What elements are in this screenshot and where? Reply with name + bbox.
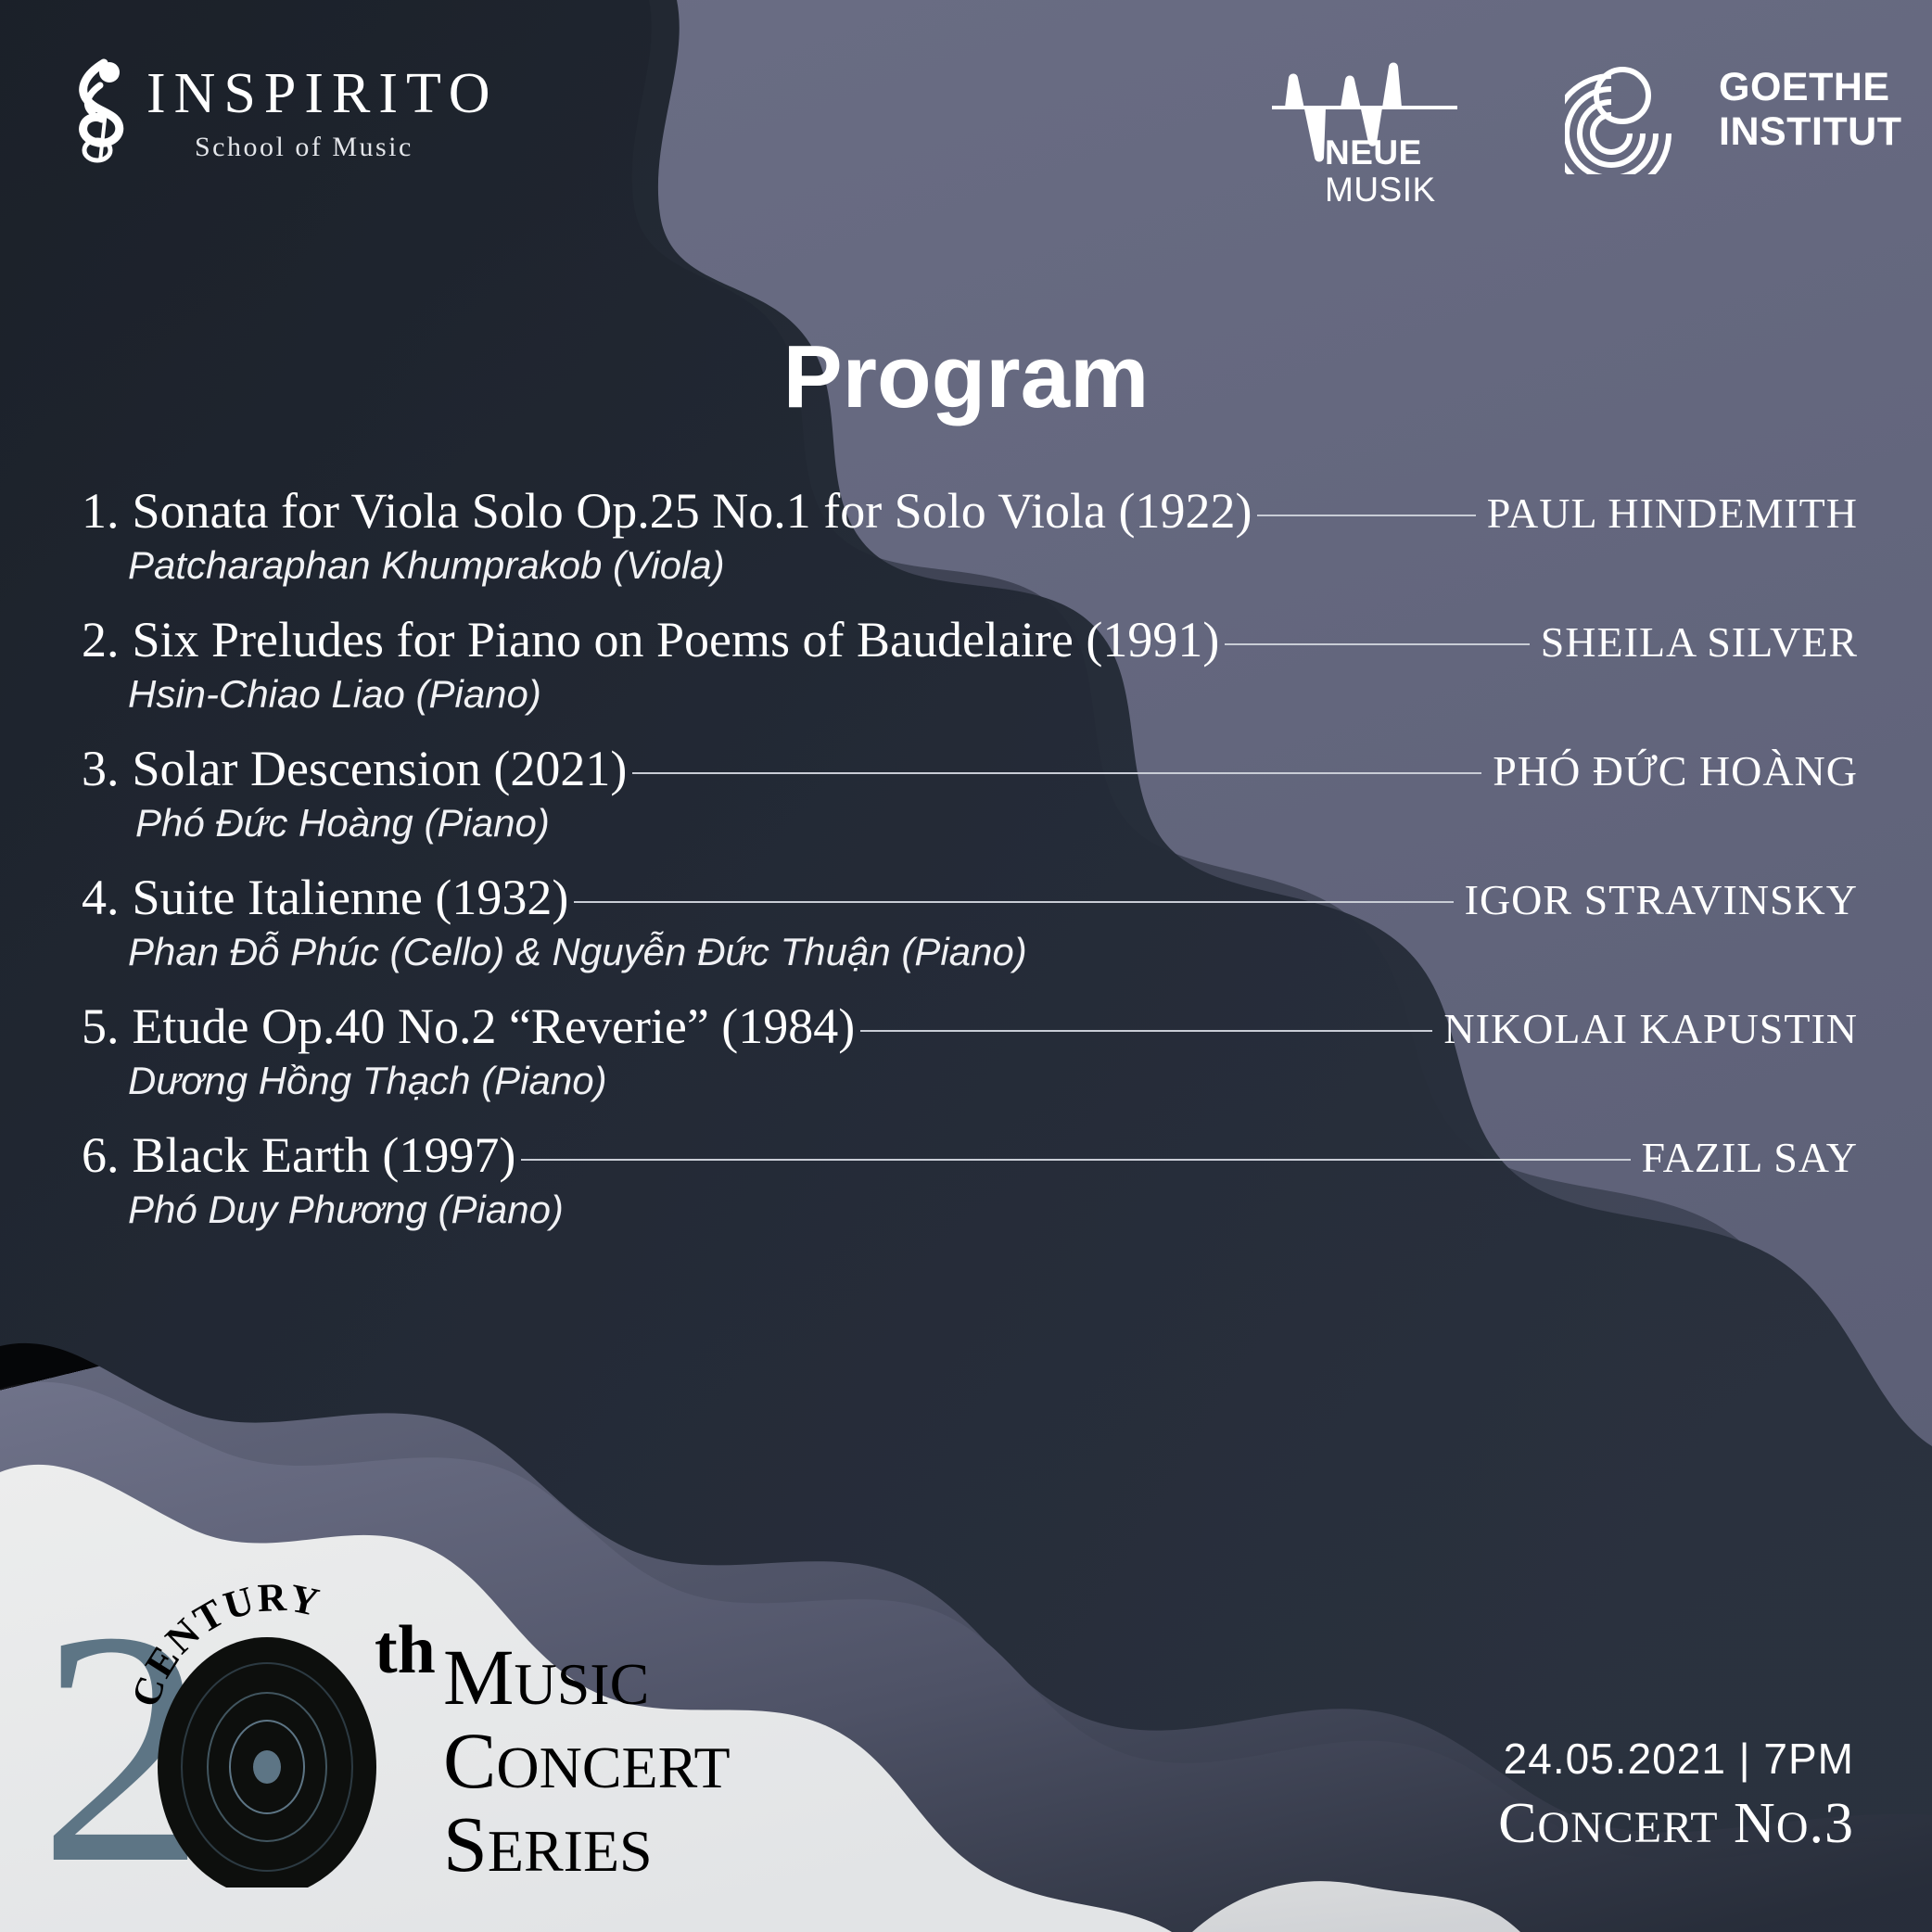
concert-prefix-letter: C — [1498, 1792, 1537, 1855]
vinyl-record-icon — [158, 1637, 376, 1888]
series-line-concert: CONCERT — [443, 1716, 731, 1805]
goethe-concentric-arcs-icon — [1565, 44, 1695, 174]
program-item-title: Solar Descension (2021) — [133, 740, 628, 797]
program-item-composer: NIKOLAI KAPUSTIN — [1443, 1004, 1858, 1053]
goethe-line1: GOETHE — [1719, 65, 1901, 109]
concert-no-n: N — [1734, 1792, 1776, 1855]
program-item-performer: Hsin-Chiao Liao (Piano) — [128, 672, 1858, 717]
program-item-composer: PHÓ ĐỨC HOÀNG — [1493, 746, 1858, 795]
program-item-performer: Patcharaphan Khumprakob (Viola) — [128, 543, 1858, 588]
program-item-performer: Phó Duy Phương (Piano) — [128, 1188, 1858, 1232]
leader-line — [1225, 643, 1529, 645]
program-list: 1. Sonata for Viola Solo Op.25 No.1 for … — [82, 482, 1858, 1255]
leader-line — [574, 901, 1453, 903]
program-item: 4. Suite Italienne (1932) IGOR STRAVINSK… — [82, 869, 1858, 974]
series-wordmark: MUSIC CONCERT SERIES — [443, 1633, 731, 1888]
concert-program-poster: INSPIRITO School of Music NEUE MUSIK — [0, 0, 1932, 1932]
program-item-number: 1. — [82, 482, 133, 540]
program-item-number: 2. — [82, 611, 133, 668]
program-item-composer: SHEILA SILVER — [1541, 617, 1858, 667]
poster-header: INSPIRITO School of Music NEUE MUSIK — [0, 0, 1932, 222]
program-item: 5. Etude Op.40 No.2 “Reverie” (1984) NIK… — [82, 998, 1858, 1103]
series-logo: 2 CENTURY th MUSIC CONCERT SERIES — [44, 1582, 842, 1888]
program-item-title: Sonata for Viola Solo Op.25 No.1 for Sol… — [133, 482, 1252, 540]
program-item-performer: Phó Đức Hoàng (Piano) — [135, 801, 1858, 845]
leader-line — [521, 1159, 1630, 1161]
program-item-composer: IGOR STRAVINSKY — [1465, 875, 1858, 924]
leader-line — [860, 1030, 1432, 1032]
concert-word-rest: ONCERT — [1537, 1803, 1718, 1852]
concert-date-time: 24.05.2021 | 7PM — [1498, 1735, 1854, 1783]
neue-musik-line1: NEUE — [1325, 135, 1422, 170]
leader-line — [632, 772, 1481, 774]
neue-musik-line2: MUSIK — [1325, 172, 1436, 207]
program-item-composer: FAZIL SAY — [1642, 1133, 1859, 1182]
program-item-composer: PAUL HINDEMITH — [1487, 489, 1858, 538]
inspirito-name: INSPIRITO — [146, 65, 499, 122]
inspirito-clef-icon — [72, 57, 130, 167]
program-item-number: 6. — [82, 1126, 133, 1184]
program-item-number: 3. — [82, 740, 133, 797]
series-ordinal: th — [375, 1612, 436, 1688]
goethe-wordmark: GOETHE INSTITUT — [1719, 65, 1901, 154]
program-item-performer: Phan Đỗ Phúc (Cello) & Nguyễn Đức Thuận … — [128, 930, 1858, 974]
program-item: 3. Solar Descension (2021) PHÓ ĐỨC HOÀNG… — [82, 740, 1858, 845]
inspirito-subtitle: School of Music — [195, 133, 499, 161]
concert-number-value: .3 — [1810, 1792, 1855, 1855]
program-item: 1. Sonata for Viola Solo Op.25 No.1 for … — [82, 482, 1858, 588]
program-item-performer: Dương Hồng Thạch (Piano) — [128, 1059, 1858, 1103]
program-item-number: 4. — [82, 869, 133, 926]
program-item-number: 5. — [82, 998, 133, 1055]
leader-line — [1257, 515, 1475, 516]
program-heading: Program — [0, 326, 1932, 428]
concert-footer-info: 24.05.2021 | 7PM CONCERT NO.3 — [1498, 1735, 1854, 1854]
program-item-title: Six Preludes for Piano on Poems of Baude… — [133, 611, 1220, 668]
program-item-title: Suite Italienne (1932) — [133, 869, 569, 926]
program-item: 2. Six Preludes for Piano on Poems of Ba… — [82, 611, 1858, 717]
inspirito-logo: INSPIRITO School of Music — [72, 57, 499, 167]
series-line-series: SERIES — [443, 1799, 653, 1888]
concert-no-o: O — [1776, 1803, 1810, 1852]
program-item: 6. Black Earth (1997) FAZIL SAY Phó Duy … — [82, 1126, 1858, 1232]
neue-musik-logo: NEUE MUSIK — [1272, 54, 1471, 163]
program-item-title: Etude Op.40 No.2 “Reverie” (1984) — [133, 998, 856, 1055]
program-item-title: Black Earth (1997) — [133, 1126, 516, 1184]
series-line-music: MUSIC — [443, 1633, 649, 1722]
goethe-institut-logo: GOETHE INSTITUT — [1565, 44, 1901, 174]
concert-number-label: CONCERT NO.3 — [1498, 1794, 1854, 1854]
goethe-line2: INSTITUT — [1719, 109, 1901, 154]
